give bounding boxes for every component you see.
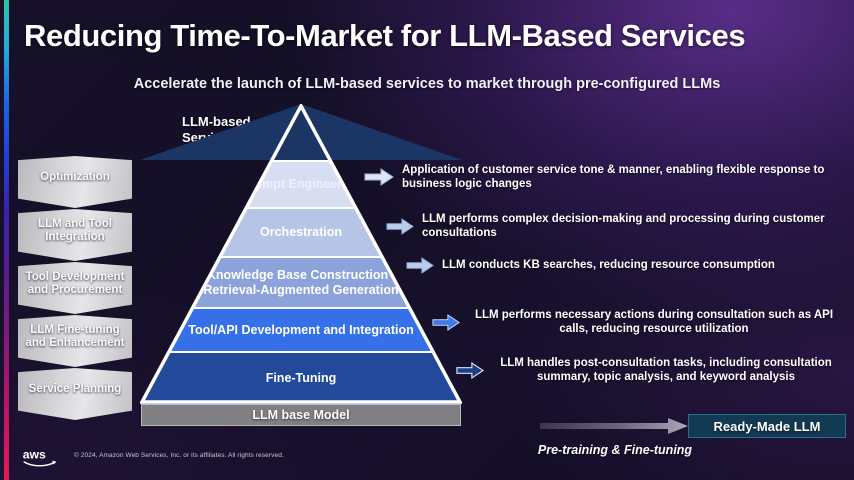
- arrow-right-icon: [456, 361, 484, 380]
- pyramid-band-label: Orchestration: [246, 225, 356, 240]
- process-arrow-icon: [540, 418, 688, 434]
- llm-stack-pyramid: Prompt Engineering Orchestration Knowled…: [140, 104, 462, 404]
- pyramid-band-label: Knowledge Base Construction / Retrieval-…: [189, 268, 412, 298]
- phase-chevron-tool-development-and-procurement[interactable]: Tool Development and Procurement: [18, 262, 132, 314]
- ready-made-llm-badge[interactable]: Ready-Made LLM: [688, 414, 846, 438]
- phase-label: Service Planning: [29, 383, 122, 396]
- arrow-right-icon: [432, 313, 460, 332]
- pyramid-band-label: Prompt Engineering: [227, 177, 374, 192]
- aws-logo-icon: aws: [22, 446, 58, 468]
- ready-made-llm-label: Ready-Made LLM: [714, 419, 821, 434]
- phase-chevron-stack: Optimization LLM and Tool Integration To…: [18, 156, 132, 421]
- accent-color-strip: [4, 0, 9, 480]
- pyramid-band-label: Tool/API Development and Integration: [174, 323, 427, 338]
- arrow-right-icon: [406, 256, 434, 275]
- arrow-right-icon: [364, 167, 394, 187]
- phase-label: Tool Development and Procurement: [23, 271, 127, 298]
- phase-label: LLM and Tool Integration: [23, 218, 127, 245]
- phase-chevron-llm-and-tool-integration[interactable]: LLM and Tool Integration: [18, 209, 132, 261]
- callout-text: LLM performs complex decision-making and…: [422, 212, 840, 241]
- llm-base-model-label: LLM base Model: [252, 408, 349, 422]
- copyright-text: © 2024, Amazon Web Services, Inc. or its…: [74, 452, 284, 459]
- pyramid-band-label-line2: Retrieval-Augmented Generation: [203, 283, 398, 297]
- callout-text: LLM handles post-consultation tasks, inc…: [492, 356, 840, 385]
- phase-label: Optimization: [40, 171, 110, 184]
- phase-chevron-optimization[interactable]: Optimization: [18, 156, 132, 208]
- pyramid-band-fine-tuning[interactable]: Fine-Tuning: [140, 351, 462, 404]
- callout-text: LLM performs necessary actions during co…: [468, 308, 840, 337]
- phase-chevron-llm-fine-tuning-and-enhancement[interactable]: LLM Fine-tuning and Enhancement: [18, 315, 132, 367]
- callout-orchestration: LLM performs complex decision-making and…: [386, 212, 852, 241]
- callout-text: Application of customer service tone & m…: [402, 163, 842, 192]
- llm-base-model-bar[interactable]: LLM base Model: [141, 404, 461, 426]
- slide-canvas: Reducing Time-To-Market for LLM-Based Se…: [0, 0, 854, 480]
- pyramid-band-apex[interactable]: [140, 104, 462, 160]
- pyramid-band-tool-api-development[interactable]: Tool/API Development and Integration: [140, 307, 462, 351]
- callout-prompt-engineering: Application of customer service tone & m…: [364, 163, 852, 192]
- pyramid-band-label-line1: Knowledge Base Construction /: [207, 268, 395, 282]
- callout-knowledge-base: LLM conducts KB searches, reducing resou…: [406, 256, 852, 275]
- phase-label: LLM Fine-tuning and Enhancement: [23, 324, 127, 351]
- page-subtitle: Accelerate the launch of LLM-based servi…: [0, 76, 854, 92]
- page-title: Reducing Time-To-Market for LLM-Based Se…: [24, 18, 834, 54]
- callout-tool-api: LLM performs necessary actions during co…: [432, 308, 852, 337]
- pre-training-fine-tuning-label: Pre-training & Fine-tuning: [515, 443, 715, 457]
- callout-fine-tuning: LLM handles post-consultation tasks, inc…: [456, 356, 852, 385]
- pyramid-band-label: Fine-Tuning: [252, 371, 351, 386]
- svg-text:aws: aws: [23, 447, 46, 461]
- arrow-right-icon: [386, 217, 414, 236]
- phase-chevron-service-planning[interactable]: Service Planning: [18, 368, 132, 420]
- callout-text: LLM conducts KB searches, reducing resou…: [442, 258, 840, 272]
